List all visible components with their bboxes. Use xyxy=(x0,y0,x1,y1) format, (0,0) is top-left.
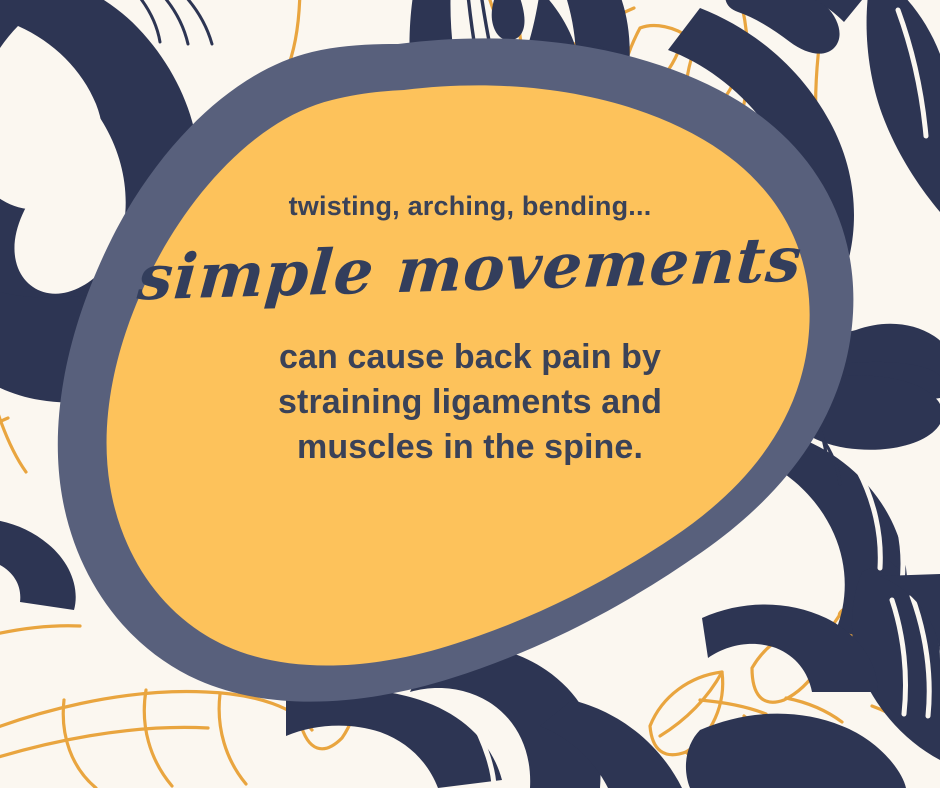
body-line-2: straining ligaments and xyxy=(130,380,810,425)
kicker-text: twisting, arching, bending... xyxy=(130,190,810,222)
poster-canvas: twisting, arching, bending... simple mov… xyxy=(0,0,940,788)
headline-script-text: simple movements xyxy=(128,227,813,311)
body-line-3: muscles in the spine. xyxy=(130,425,810,470)
body-copy: can cause back pain by straining ligamen… xyxy=(130,335,810,470)
body-line-1: can cause back pain by xyxy=(130,335,810,380)
message-text-stack: twisting, arching, bending... simple mov… xyxy=(130,190,810,470)
